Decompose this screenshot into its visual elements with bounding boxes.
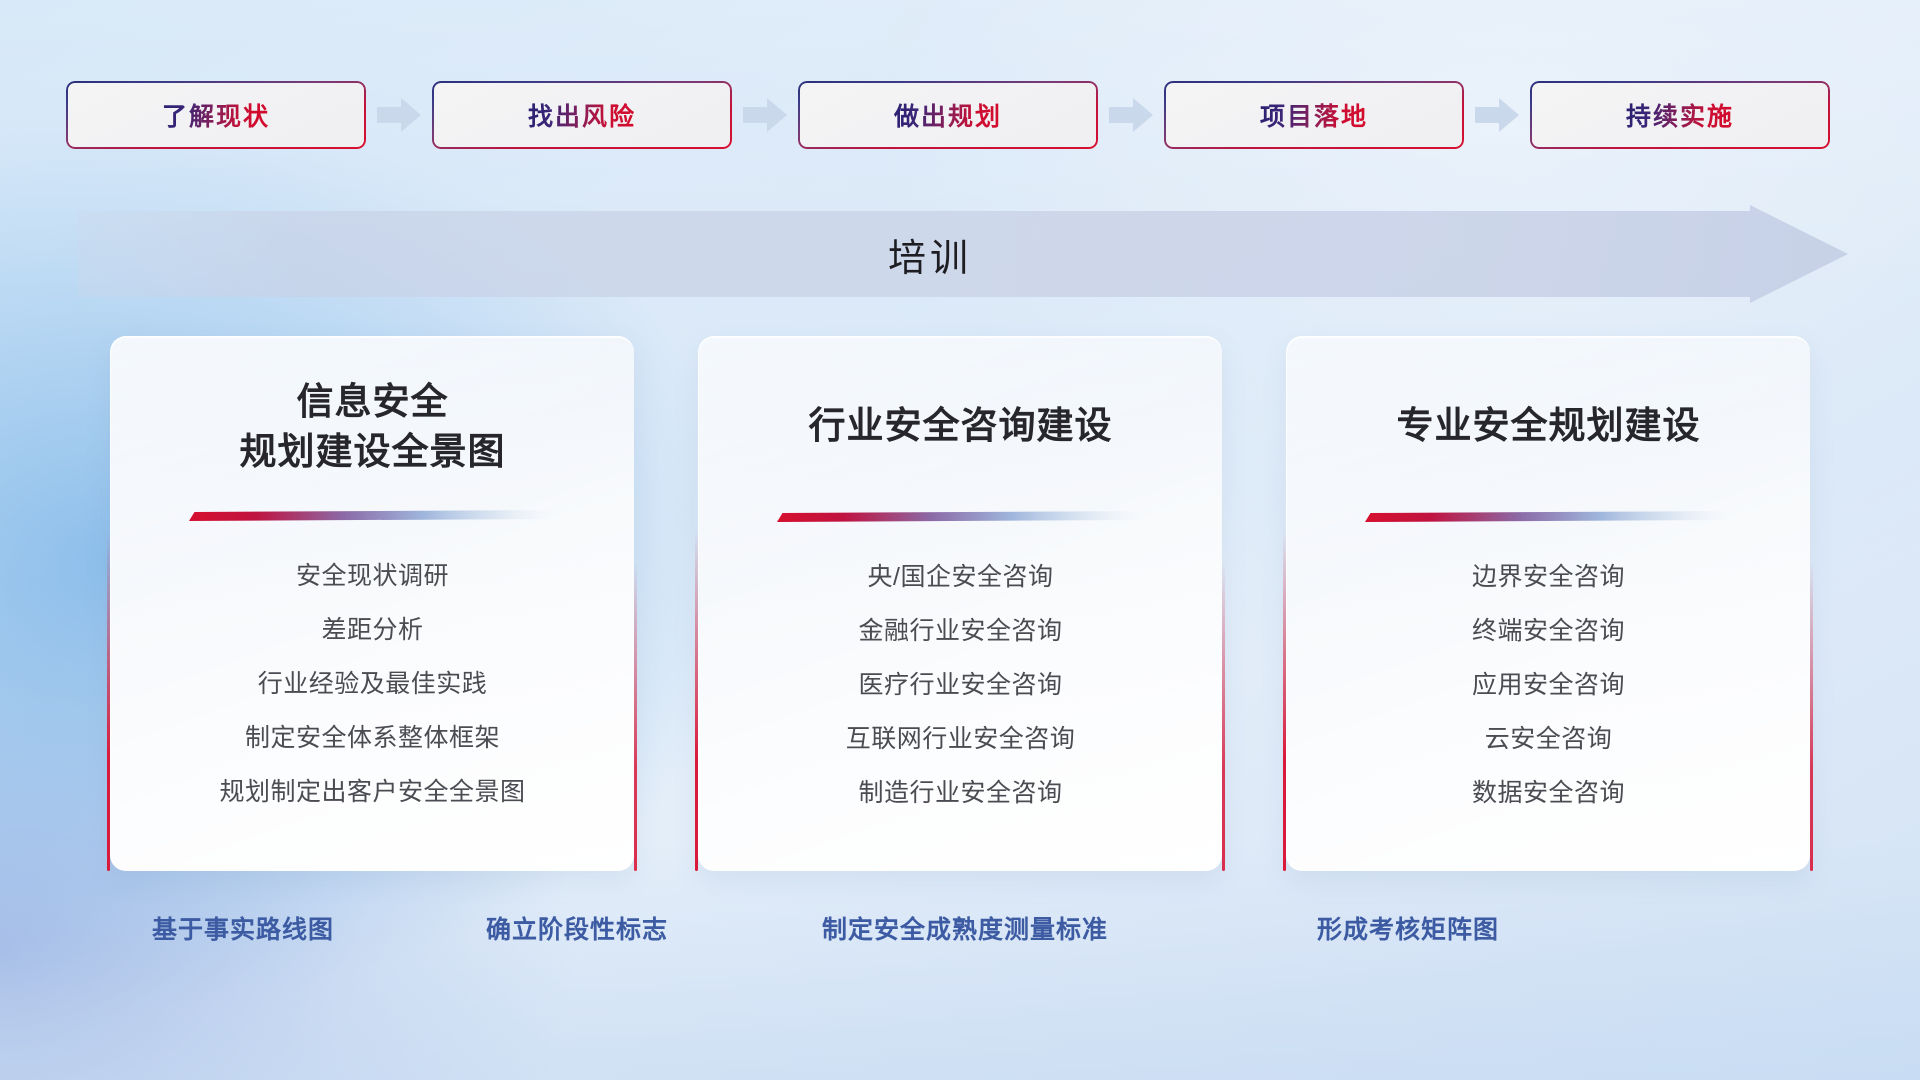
card-item: 金融行业安全咨询 xyxy=(858,610,1062,652)
arrow-right-icon xyxy=(732,95,798,135)
step-box-5[interactable]: 持续实施 xyxy=(1530,81,1830,149)
footer-label-2: 确立阶段性标志 xyxy=(486,910,668,946)
card-accent-edge-right xyxy=(634,356,637,871)
footer-label-1: 基于事实路线图 xyxy=(152,910,334,946)
step-label-2: 找出风险 xyxy=(528,97,636,133)
card-item-list-1: 安全现状调研 差距分析 行业经验及最佳实践 制定安全体系整体框架 规划制定出客户… xyxy=(219,555,525,813)
step-box-1[interactable]: 了解现状 xyxy=(66,81,366,149)
card-item: 终端安全咨询 xyxy=(1472,610,1625,652)
card-information-security-blueprint[interactable]: 信息安全 规划建设全景图 xyxy=(110,336,634,871)
card-item: 边界安全咨询 xyxy=(1472,556,1625,598)
footer-label-4: 形成考核矩阵图 xyxy=(1317,910,1499,946)
arrow-right-icon xyxy=(1098,95,1164,135)
step-label-1: 了解现状 xyxy=(162,97,270,133)
card-item: 制造行业安全咨询 xyxy=(858,772,1062,814)
step-box-3[interactable]: 做出规划 xyxy=(798,81,1098,149)
card-item: 规划制定出客户安全全景图 xyxy=(219,771,525,813)
step-label-5: 持续实施 xyxy=(1626,97,1734,133)
card-group: 信息安全 规划建设全景图 xyxy=(110,336,1810,871)
card-item: 差距分析 xyxy=(321,609,423,651)
card-wrapper-3: 专业安全规划建设 xyxy=(1286,336,1810,871)
card-accent-edge-right xyxy=(1810,356,1813,871)
step-label-3: 做出规划 xyxy=(894,97,1002,133)
arrow-right-icon xyxy=(1464,95,1530,135)
card-divider-1 xyxy=(189,510,556,521)
step-box-4[interactable]: 项目落地 xyxy=(1164,81,1464,149)
card-item: 互联网行业安全咨询 xyxy=(846,718,1076,760)
card-item: 应用安全咨询 xyxy=(1472,664,1625,706)
card-wrapper-1: 信息安全 规划建设全景图 xyxy=(110,336,634,871)
card-wrapper-2: 行业安全咨询建设 xyxy=(698,336,1222,871)
card-item-list-3: 边界安全咨询 终端安全咨询 应用安全咨询 云安全咨询 数据安全咨询 xyxy=(1472,556,1625,814)
card-divider-2 xyxy=(777,511,1144,522)
card-item: 云安全咨询 xyxy=(1485,718,1613,760)
card-industry-security-consulting[interactable]: 行业安全咨询建设 xyxy=(698,336,1222,871)
banner-title: 培训 xyxy=(78,205,1782,303)
arrow-right-icon xyxy=(366,95,432,135)
card-title-1: 信息安全 规划建设全景图 xyxy=(240,377,506,476)
card-divider-3 xyxy=(1365,511,1732,522)
card-item: 医疗行业安全咨询 xyxy=(858,664,1062,706)
training-banner: 培训 xyxy=(78,205,1848,303)
step-box-2[interactable]: 找出风险 xyxy=(432,81,732,149)
card-item: 安全现状调研 xyxy=(296,555,449,597)
footer-label-row: 基于事实路线图 确立阶段性标志 制定安全成熟度测量标准 形成考核矩阵图 xyxy=(0,910,1920,966)
card-title-2: 行业安全咨询建设 xyxy=(809,401,1113,451)
card-item-list-2: 央/国企安全咨询 金融行业安全咨询 医疗行业安全咨询 互联网行业安全咨询 制造行… xyxy=(846,556,1076,814)
process-step-flow: 了解现状 找出风险 做出规划 项目落地 持续实施 xyxy=(66,80,1854,150)
card-title-3: 专业安全规划建设 xyxy=(1397,401,1701,451)
step-label-4: 项目落地 xyxy=(1260,97,1368,133)
card-item: 数据安全咨询 xyxy=(1472,772,1625,814)
card-item: 行业经验及最佳实践 xyxy=(258,663,488,705)
footer-label-3: 制定安全成熟度测量标准 xyxy=(822,910,1108,946)
card-accent-edge-right xyxy=(1222,356,1225,871)
card-item: 制定安全体系整体框架 xyxy=(245,717,500,759)
card-item: 央/国企安全咨询 xyxy=(868,556,1054,598)
card-professional-security-planning[interactable]: 专业安全规划建设 xyxy=(1286,336,1810,871)
